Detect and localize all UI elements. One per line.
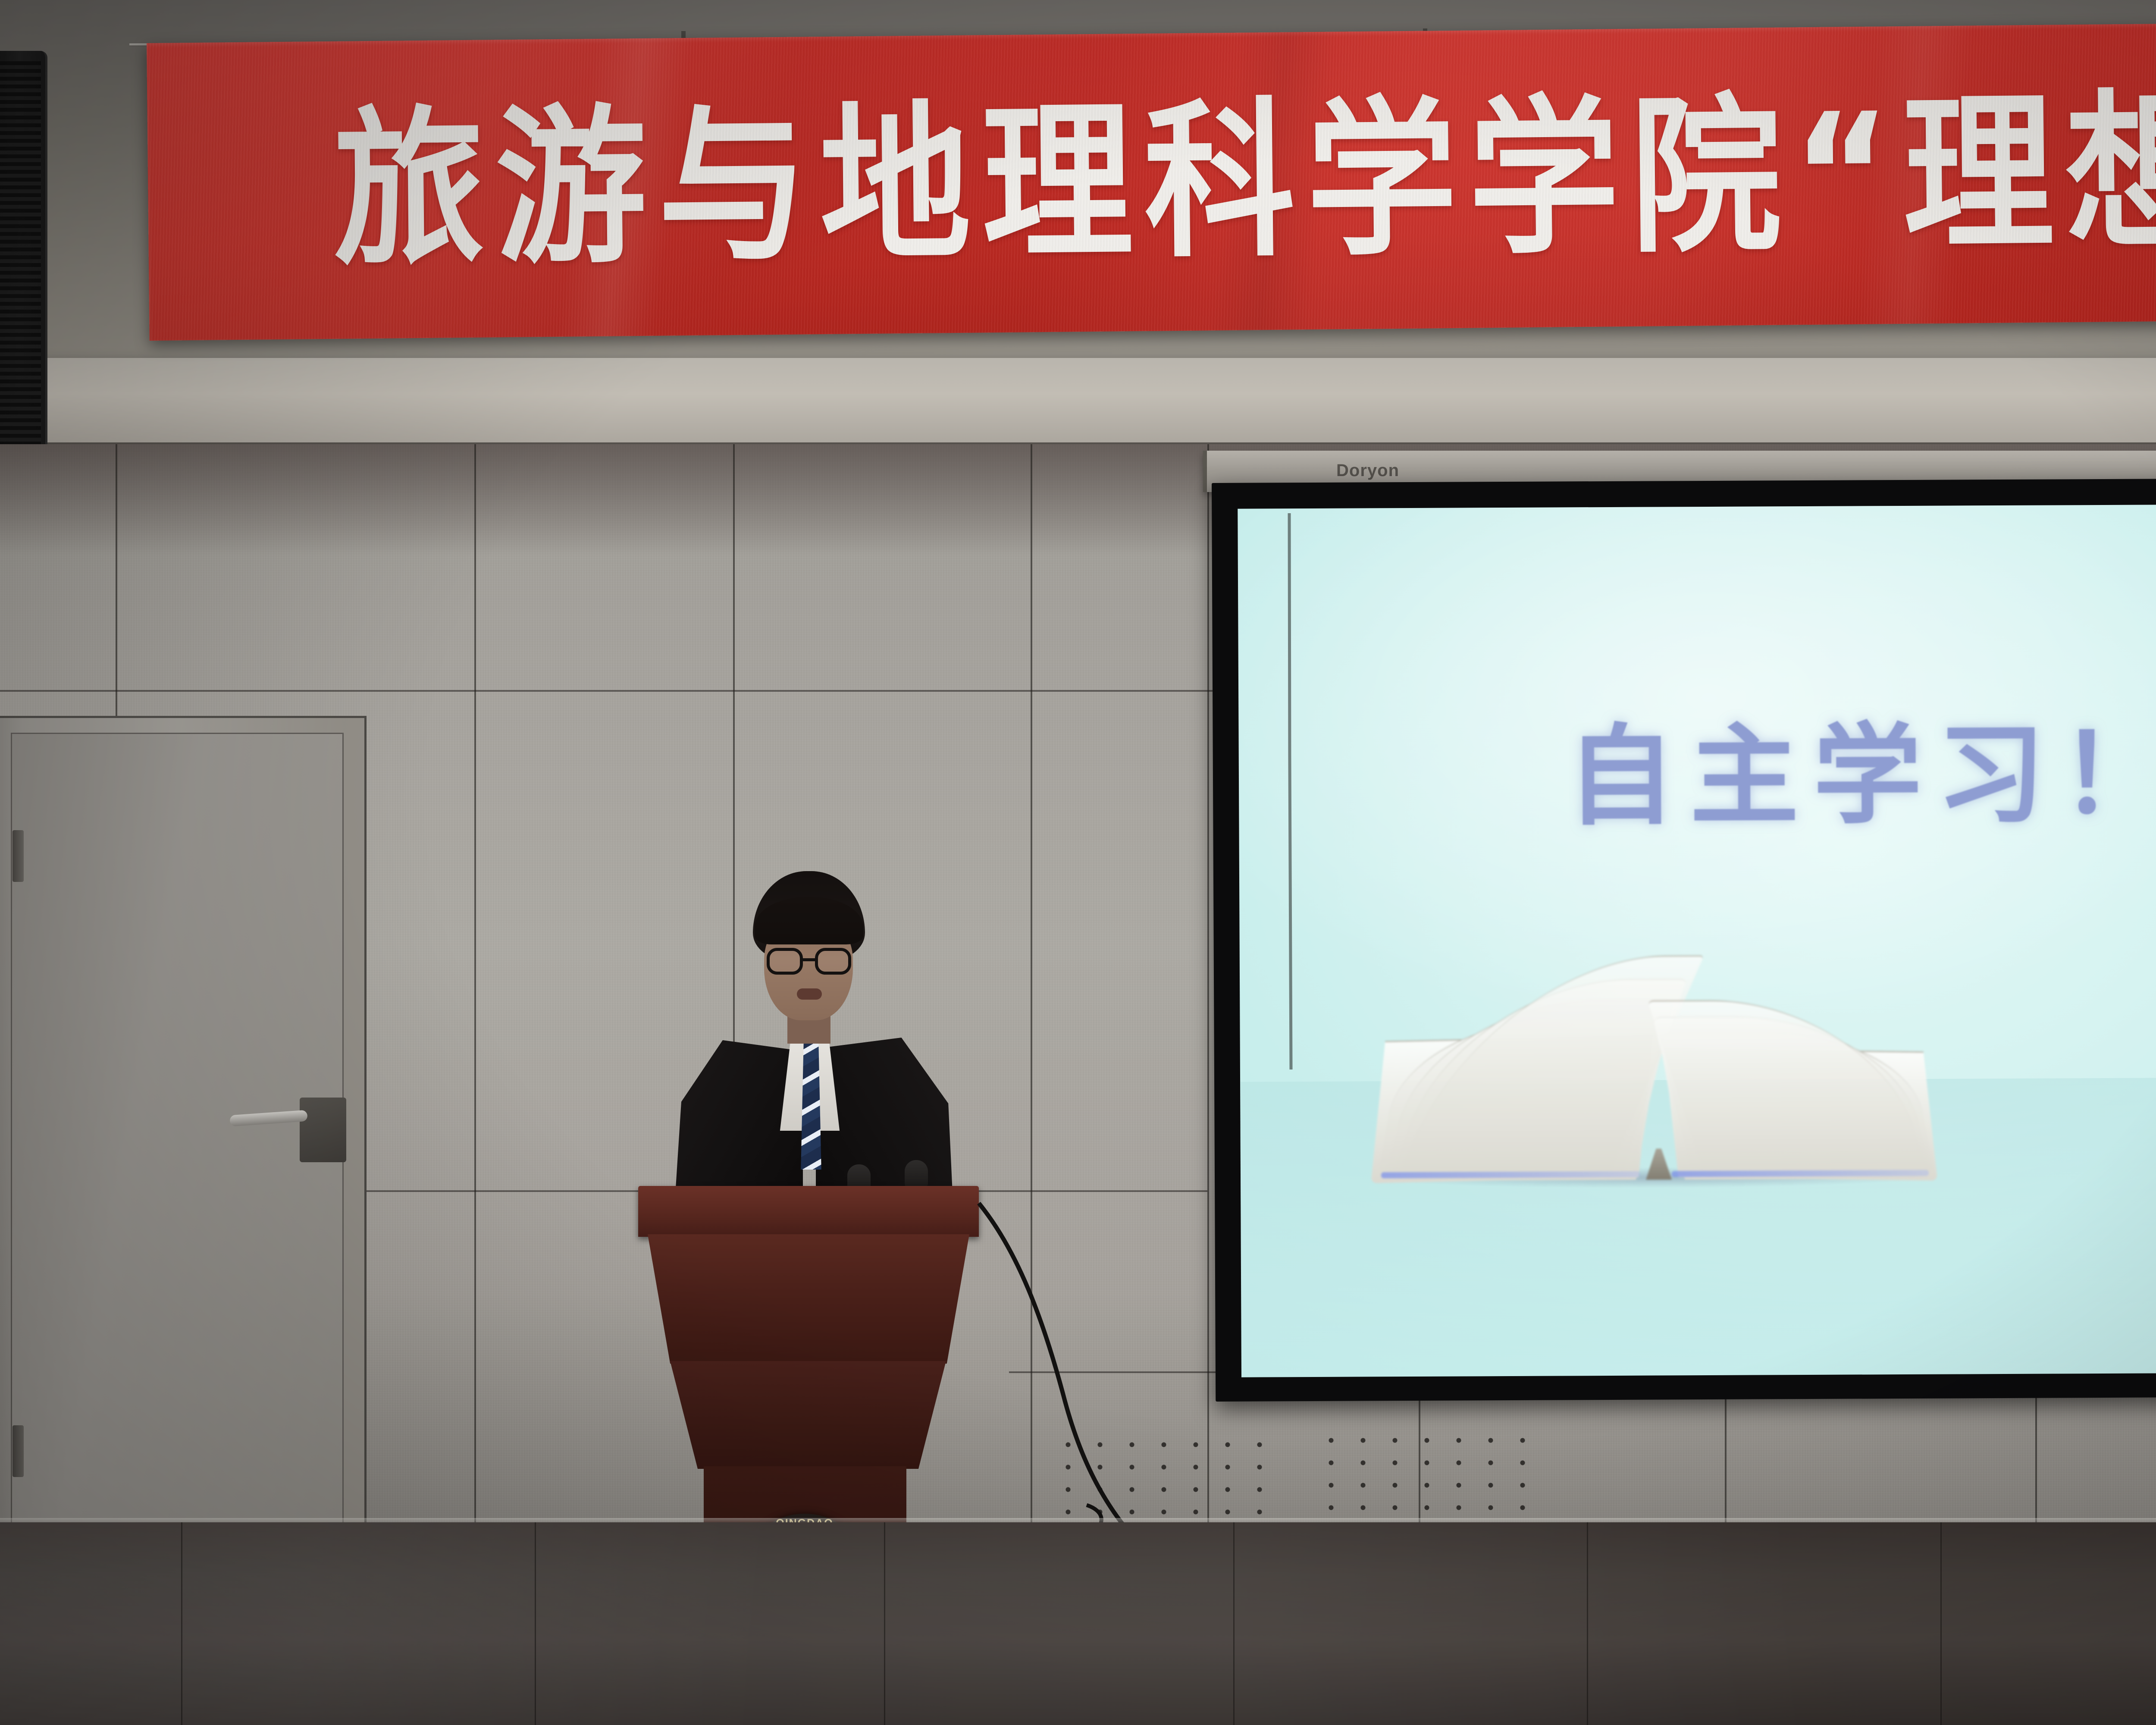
podium-desktop	[638, 1186, 979, 1237]
door-leaf[interactable]	[11, 733, 344, 1533]
lecture-hall-scene: 旅游与地理科学学院“理想路上，你 Doryon	[0, 0, 2156, 1725]
wall-speaker-unit	[0, 51, 47, 486]
projection-screen: 自主学习！	[1212, 477, 2156, 1402]
door-lock-plate[interactable]	[300, 1098, 346, 1162]
projection-surface: 自主学习！	[1238, 503, 2156, 1377]
wall-seam	[1031, 444, 1032, 1531]
open-book-graphic	[1369, 937, 1948, 1181]
podium-front-panel	[648, 1234, 969, 1364]
speaker-grille	[0, 61, 41, 469]
banner-text: 旅游与地理科学学院“理想路上，你	[332, 81, 2156, 275]
screen-brand-logo: Doryon	[1336, 461, 1399, 480]
event-banner: 旅游与地理科学学院“理想路上，你	[147, 19, 2156, 340]
perforation-block	[1052, 1433, 1276, 1520]
door-hinge-top	[13, 830, 24, 882]
book-spine	[1646, 1148, 1672, 1179]
glasses-icon	[767, 948, 851, 975]
slide-title: 自主学习！	[1566, 686, 2156, 846]
ceiling-soffit	[0, 358, 2156, 448]
door-hinge-bottom	[13, 1425, 24, 1477]
mouth	[797, 988, 822, 1000]
stage-floor	[0, 1522, 2156, 1725]
podium-midsection	[670, 1361, 946, 1469]
perforation-block	[1315, 1429, 1539, 1515]
side-door[interactable]	[0, 716, 367, 1535]
wall-seam	[474, 444, 476, 1531]
wall-seam	[1207, 444, 1209, 1531]
floor-reflection	[0, 1522, 2156, 1725]
